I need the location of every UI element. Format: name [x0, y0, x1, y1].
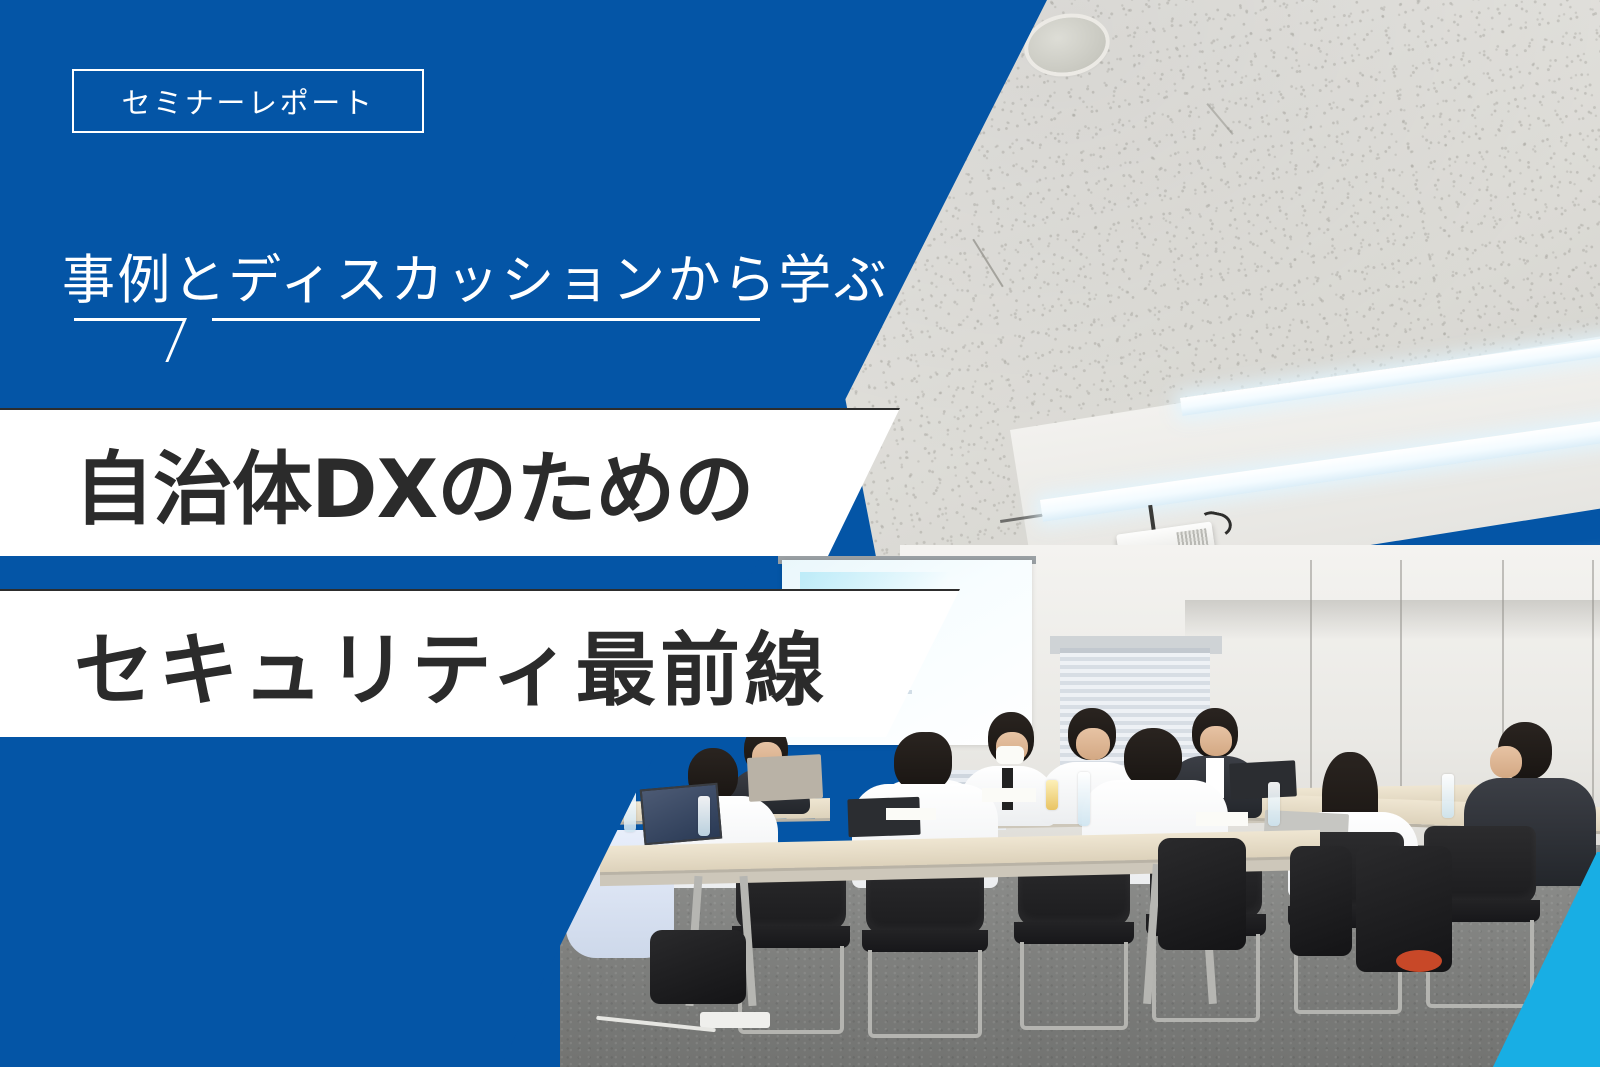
name-card-3 [886, 808, 936, 820]
backpack-2 [1158, 838, 1246, 950]
power-strip [700, 1012, 770, 1028]
name-card-1 [982, 788, 1036, 802]
backpack-3 [1290, 846, 1352, 956]
subtitle-rule-left [74, 318, 184, 321]
badge-label: セミナーレポート [122, 80, 375, 122]
water-bottle-5 [1442, 774, 1454, 818]
subtitle-rule-right [212, 318, 760, 321]
water-bottle-4 [1268, 782, 1280, 826]
drink-bottle-tea [1046, 780, 1058, 810]
laptop-presenter [747, 754, 823, 802]
wall-shadow [1185, 600, 1600, 640]
name-card-2 [1196, 812, 1248, 826]
title-banner-line-1: 自治体DXのための [0, 408, 904, 558]
backpack-1 [650, 930, 746, 1004]
title-text-line-2: セキュリティ最前線 [74, 606, 829, 722]
laptop-back-right [1229, 760, 1297, 799]
water-bottle-2 [698, 796, 710, 836]
seminar-report-hero-banner: セミナーレポート 事例とディスカッションから学ぶ 自治体DXのための セキュリテ… [0, 0, 1600, 1067]
bag-tag [1396, 950, 1442, 972]
hero-subtitle: 事例とディスカッションから学ぶ [62, 238, 889, 314]
title-banner-line-2: セキュリティ最前線 [0, 589, 964, 739]
water-bottle-3 [1078, 772, 1090, 826]
title-text-line-1: 自治体DXのための [74, 425, 753, 541]
seminar-report-badge: セミナーレポート [72, 69, 424, 133]
